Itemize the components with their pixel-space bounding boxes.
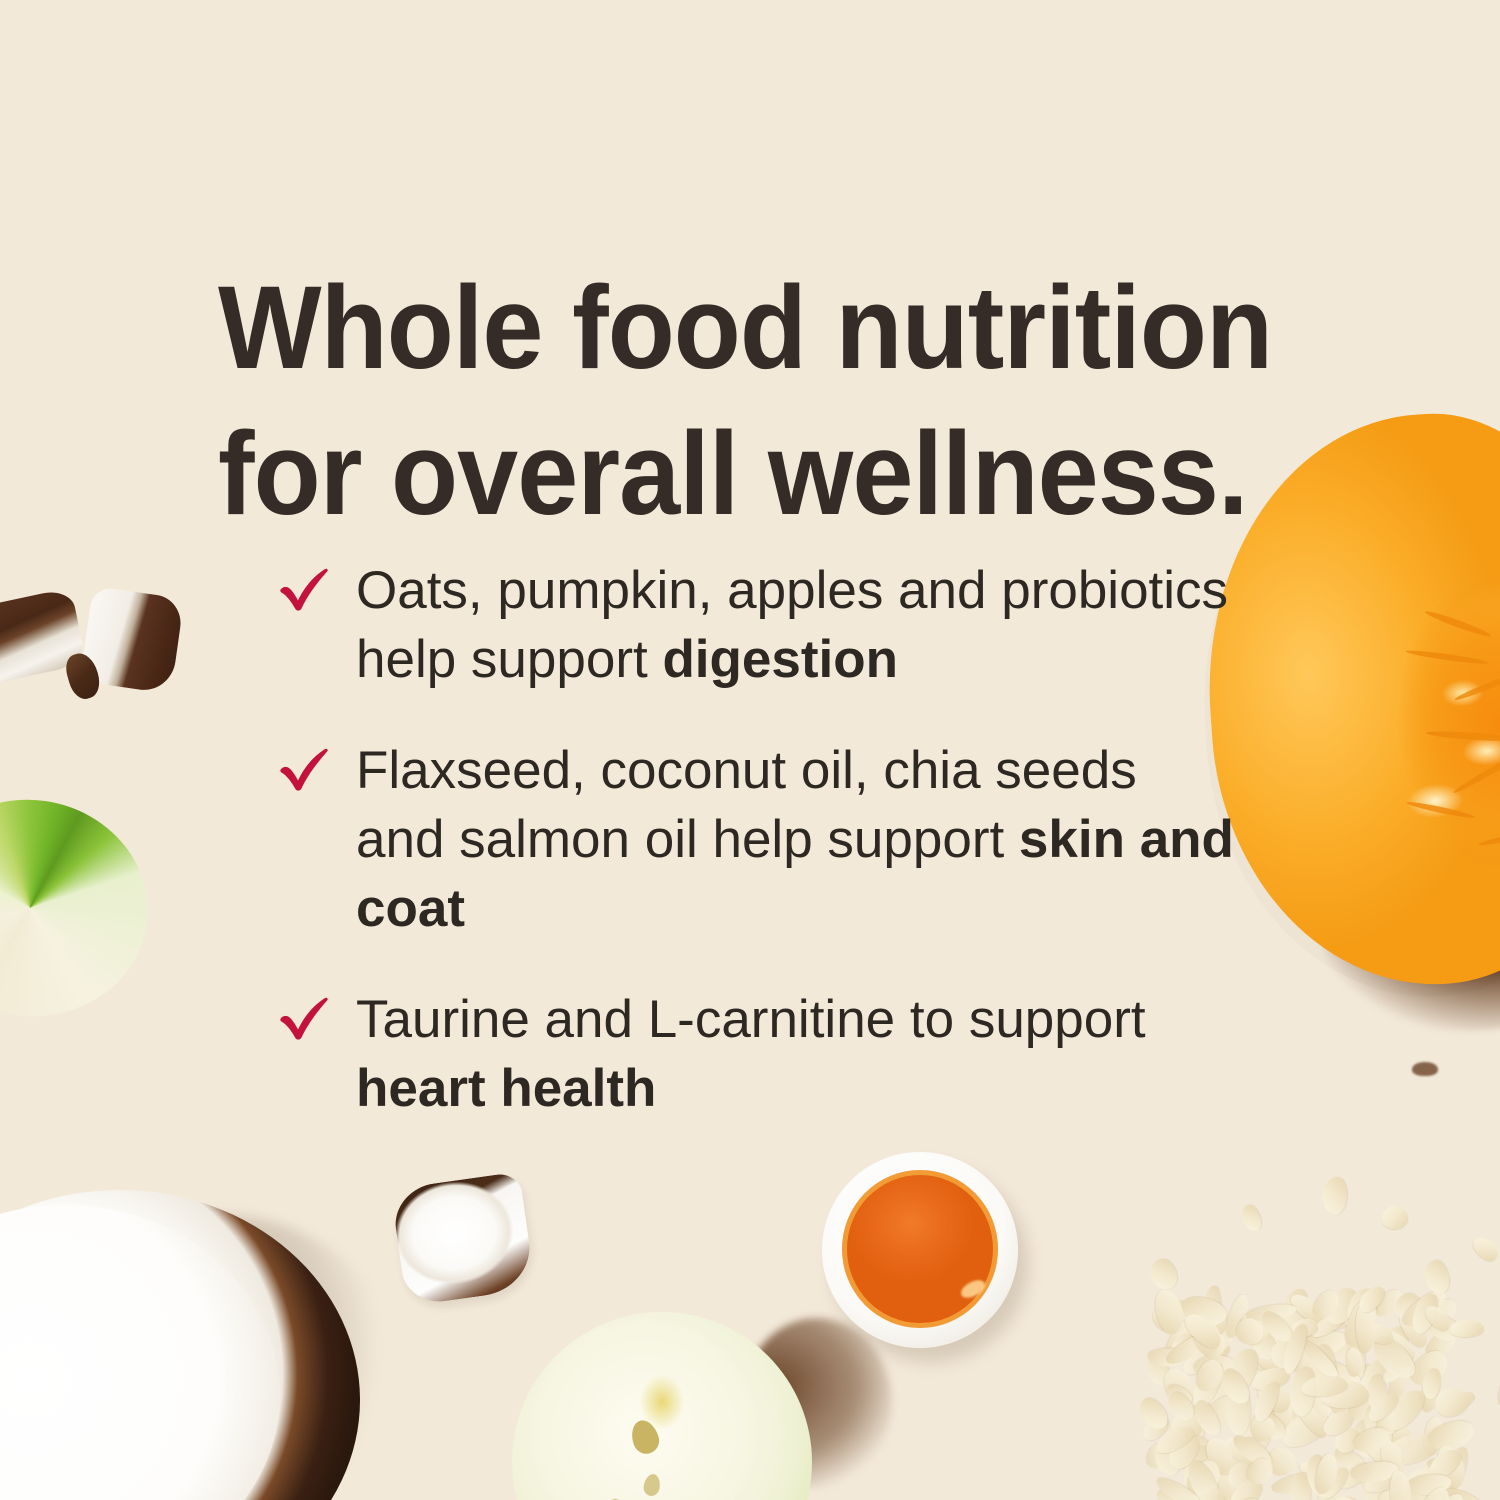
- list-item: Taurine and L-carnitine to support heart…: [278, 985, 1238, 1123]
- oat-flake: [1389, 1470, 1412, 1500]
- list-item: Flaxseed, coconut oil, chia seeds and sa…: [278, 736, 1238, 943]
- headline-line-1: Whole food nutrition: [218, 255, 1260, 401]
- list-item-text: Taurine and L-carnitine to support heart…: [356, 990, 1146, 1118]
- list-item-text: Oats, pumpkin, apples and probiotics hel…: [356, 561, 1228, 689]
- oat-flake: [1239, 1203, 1264, 1234]
- rolled-oats-image: [1120, 1170, 1500, 1500]
- oat-flake: [1422, 1259, 1451, 1297]
- coconut-chunk-image: [390, 1172, 535, 1307]
- list-item-text-bold: heart health: [356, 1059, 656, 1118]
- benefit-list: Oats, pumpkin, apples and probiotics hel…: [278, 556, 1238, 1123]
- oat-flake: [1381, 1205, 1409, 1230]
- check-icon: [278, 995, 330, 1043]
- list-item-text-normal: Taurine and L-carnitine to support: [356, 990, 1146, 1049]
- oat-flake: [1470, 1233, 1500, 1265]
- check-icon: [278, 566, 330, 614]
- promo-image: Whole food nutrition for overall wellnes…: [0, 0, 1500, 1500]
- headline-line-2: for overall wellness.: [218, 401, 1260, 547]
- list-item-text-bold: digestion: [662, 630, 898, 689]
- oat-flake: [1321, 1176, 1349, 1216]
- oat-flake: [1147, 1256, 1181, 1293]
- apple-slice-image: [0, 785, 162, 1032]
- salmon-oil-liquid: [842, 1170, 998, 1328]
- page-title: Whole food nutrition for overall wellnes…: [218, 255, 1260, 547]
- oat-flake: [1450, 1319, 1484, 1337]
- list-item-text: Flaxseed, coconut oil, chia seeds and sa…: [356, 741, 1234, 938]
- list-item: Oats, pumpkin, apples and probiotics hel…: [278, 556, 1238, 694]
- oat-speck: [1412, 1062, 1438, 1076]
- check-icon: [278, 746, 330, 794]
- oat-flake: [1494, 1369, 1500, 1411]
